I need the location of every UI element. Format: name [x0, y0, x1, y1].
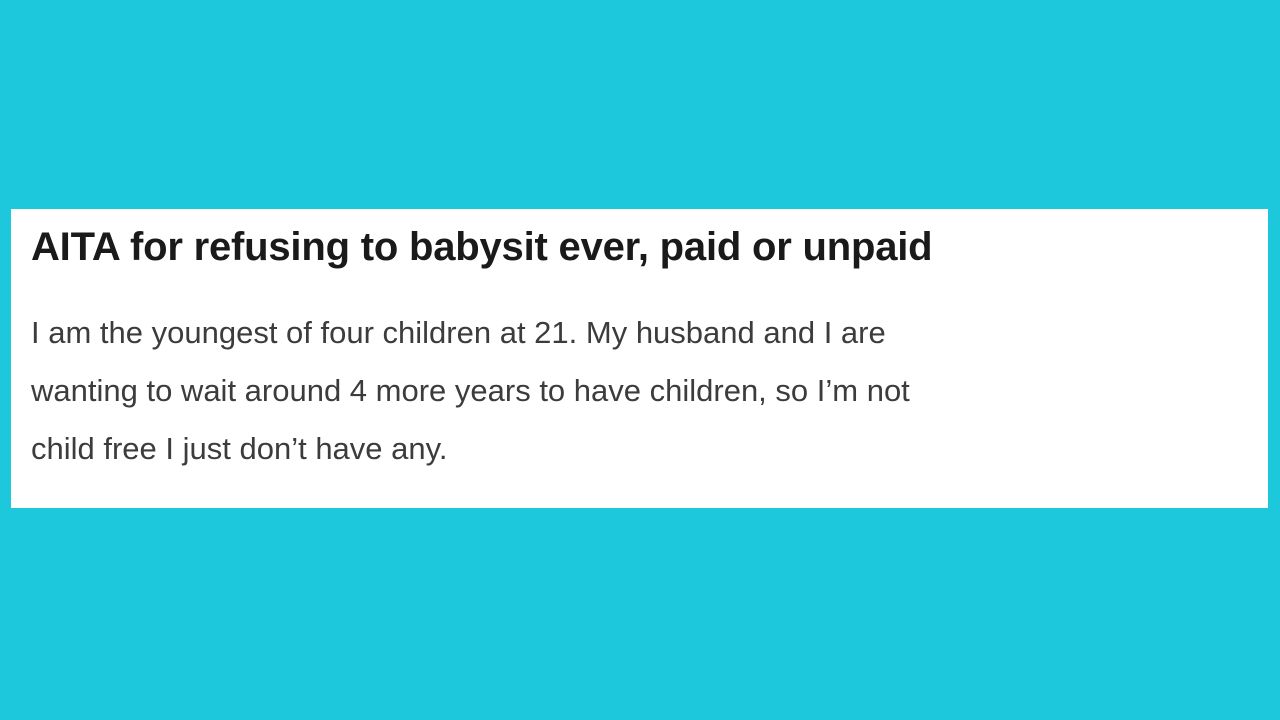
post-body-line: child free I just don’t have any.: [31, 420, 1248, 478]
post-body: I am the youngest of four children at 21…: [31, 270, 1248, 478]
post-title: AITA for refusing to babysit ever, paid …: [31, 225, 1248, 270]
screenshot-canvas: AITA for refusing to babysit ever, paid …: [0, 0, 1280, 720]
post-body-line: wanting to wait around 4 more years to h…: [31, 362, 1248, 420]
post-body-line: I am the youngest of four children at 21…: [31, 304, 1248, 362]
post-card: AITA for refusing to babysit ever, paid …: [11, 209, 1268, 508]
